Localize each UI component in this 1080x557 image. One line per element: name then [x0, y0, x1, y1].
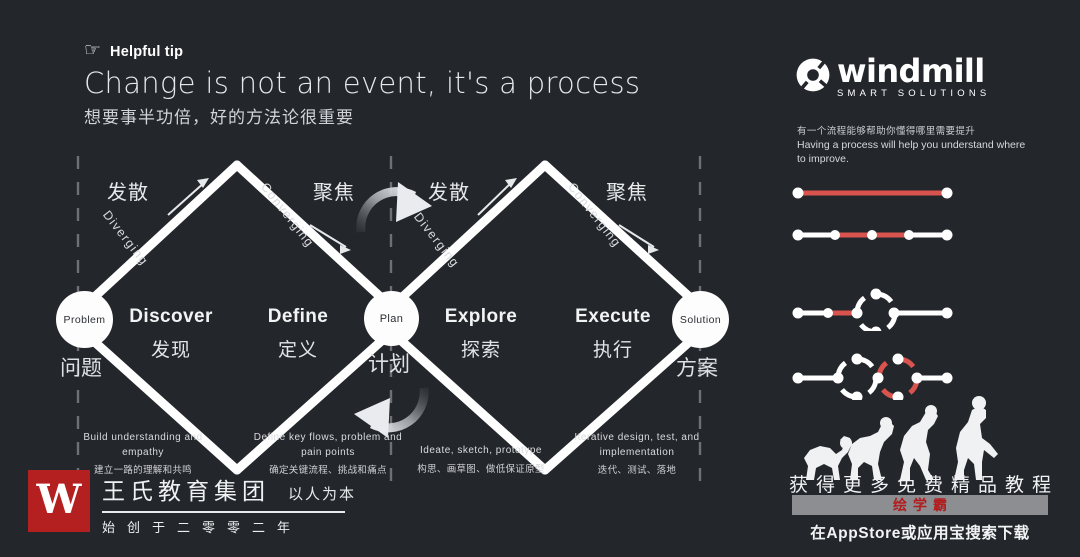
brand-since: 始创于二零零二年: [102, 517, 356, 536]
node-solution-label-cn: 方案: [676, 352, 718, 382]
left-panel: ☞ Helpful tip Change is not an event, it…: [0, 0, 760, 557]
windmill-logo-name: windmill: [837, 56, 990, 86]
brand-divider: [102, 511, 345, 513]
windmill-logo-tagline: SMART SOLUTIONS: [837, 88, 990, 99]
phase-define-en: Define: [213, 306, 383, 328]
promo-badge-label: 绘学霸: [887, 495, 953, 515]
brand-logo-letter: W: [37, 480, 82, 520]
caption-execute-cn: 迭代、测试、落地: [557, 462, 717, 476]
process-diagram-segmented: [790, 225, 955, 245]
node-plan[interactable]: Plan: [364, 291, 419, 346]
node-plan-label-cn: 计划: [368, 348, 410, 378]
flow-label-converging-2-cn: 聚焦: [606, 176, 648, 205]
phase-define: Define 定义: [213, 306, 383, 362]
node-solution[interactable]: Solution: [672, 291, 729, 348]
windmill-logo: windmill SMART SOLUTIONS: [796, 56, 990, 99]
process-diagram-single-loop: [790, 281, 955, 331]
brand-logo-icon: W: [28, 470, 90, 532]
caption-explore: Ideate, sketch, prototype 构思、画草图、做低保证原型: [401, 444, 561, 475]
caption-explore-cn: 构思、画草图、做低保证原型: [401, 461, 561, 475]
right-caption-cn: 有一个流程能够帮助你懂得哪里需要提升: [797, 123, 975, 137]
process-diagram-straight: [790, 183, 955, 203]
promo-line-1: 获得更多免费精品教程: [760, 470, 1080, 497]
node-problem-label: Problem: [64, 314, 106, 326]
caption-explore-en: Ideate, sketch, prototype: [401, 444, 561, 459]
windmill-logo-icon: [796, 58, 830, 92]
right-caption-en: Having a process will help you understan…: [797, 138, 1027, 166]
promo-line-2: 在AppStore或应用宝搜索下载: [760, 521, 1080, 543]
phase-define-cn: 定义: [213, 335, 383, 362]
caption-define-en: Define key flows, problem and pain point…: [248, 431, 408, 460]
flow-label-diverging-1-cn: 发散: [107, 176, 149, 205]
promo-badge: 绘学霸: [792, 495, 1048, 515]
node-problem[interactable]: Problem: [56, 291, 113, 348]
flow-label-converging-1-cn: 聚焦: [313, 176, 355, 205]
brand-name: 王氏教育集团: [102, 472, 270, 506]
brand-motto: 以人为本: [288, 483, 356, 504]
brand-watermark: W 王氏教育集团 以人为本 始创于二零零二年: [28, 470, 356, 536]
right-panel: windmill SMART SOLUTIONS 有一个流程能够帮助你懂得哪里需…: [760, 0, 1080, 557]
node-plan-label: Plan: [380, 313, 404, 325]
caption-execute-en: Iterative design, test, and implementati…: [557, 431, 717, 460]
node-solution-label: Solution: [680, 314, 721, 326]
flow-label-diverging-2-cn: 发散: [428, 176, 470, 205]
caption-discover-en: Build understanding and empathy: [63, 431, 223, 460]
phase-execute-cn: 执行: [528, 335, 698, 362]
caption-execute: Iterative design, test, and implementati…: [557, 431, 717, 476]
node-problem-label-cn: 问题: [60, 352, 102, 382]
brand-text: 王氏教育集团 以人为本 始创于二零零二年: [102, 470, 356, 536]
